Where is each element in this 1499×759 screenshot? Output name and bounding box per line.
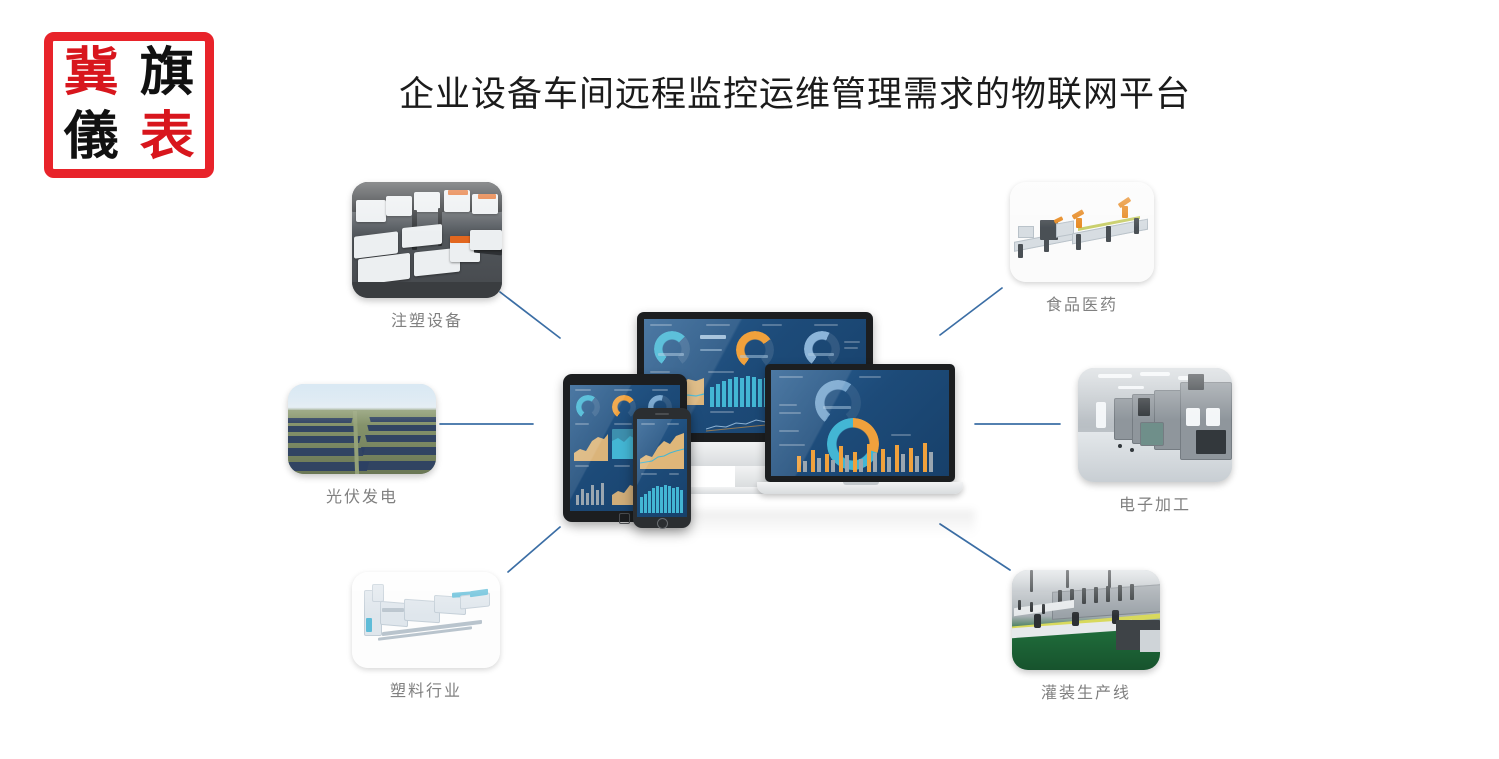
node-electronics[interactable]: 电子加工 bbox=[1078, 368, 1232, 515]
smartphone[interactable] bbox=[633, 408, 691, 528]
node-plastics-label: 塑料行业 bbox=[352, 677, 500, 701]
electronics-cleanroom-image bbox=[1078, 368, 1232, 482]
injection-molding-image bbox=[352, 182, 502, 298]
logo-char-2: 旗 bbox=[140, 47, 195, 99]
node-electronics-thumbnail bbox=[1078, 368, 1232, 482]
node-plastics[interactable]: 塑料行业 bbox=[352, 572, 500, 701]
node-filling-line[interactable]: 灌装生产线 bbox=[1012, 570, 1160, 703]
node-filling-line-thumbnail bbox=[1012, 570, 1160, 670]
node-electronics-label: 电子加工 bbox=[1078, 491, 1232, 515]
node-injection[interactable]: 注塑设备 bbox=[352, 182, 502, 331]
node-filling-line-label: 灌装生产线 bbox=[1012, 679, 1160, 703]
phone-dashboard bbox=[637, 419, 687, 517]
filling-line-image bbox=[1012, 570, 1160, 670]
logo-char-4: 表 bbox=[140, 111, 195, 163]
node-injection-thumbnail bbox=[352, 182, 502, 298]
node-food-pharma[interactable]: 食品医药 bbox=[1010, 182, 1154, 315]
link-plastics bbox=[508, 527, 560, 572]
node-food-pharma-label: 食品医药 bbox=[1010, 291, 1154, 315]
node-photovoltaic[interactable]: 光伏发电 bbox=[288, 384, 436, 507]
plastics-extrusion-image bbox=[352, 572, 500, 668]
link-injection bbox=[500, 292, 560, 338]
laptop-trackpad-notch bbox=[843, 482, 879, 485]
food-pharma-line-image bbox=[1010, 182, 1154, 282]
logo-char-3: 儀 bbox=[64, 111, 119, 163]
node-photovoltaic-thumbnail bbox=[288, 384, 436, 474]
tablet-home-button[interactable] bbox=[619, 513, 630, 524]
logo-char-1: 冀 bbox=[64, 47, 119, 99]
solar-farm-image bbox=[288, 384, 436, 474]
node-photovoltaic-label: 光伏发电 bbox=[288, 483, 436, 507]
laptop[interactable] bbox=[765, 364, 955, 496]
logo-character-grid: 冀 旗 儀 表 bbox=[53, 41, 205, 169]
phone-speaker-grille bbox=[655, 413, 669, 415]
page-title: 企业设备车间远程监控运维管理需求的物联网平台 bbox=[300, 66, 1290, 117]
device-cluster[interactable] bbox=[555, 312, 975, 522]
node-food-pharma-thumbnail bbox=[1010, 182, 1154, 282]
laptop-dashboard bbox=[771, 370, 949, 476]
phone-home-button[interactable] bbox=[657, 518, 668, 529]
node-injection-label: 注塑设备 bbox=[352, 307, 502, 331]
company-logo: 冀 旗 儀 表 bbox=[44, 32, 214, 178]
node-plastics-thumbnail bbox=[352, 572, 500, 668]
